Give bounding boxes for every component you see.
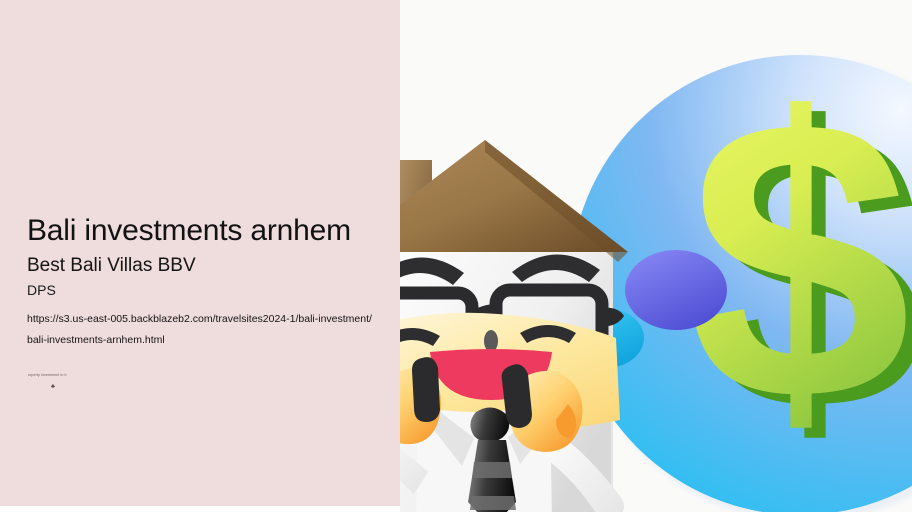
text-block: Bali investments arnhem Best Bali Villas…	[27, 212, 387, 351]
tie-stripe-2	[470, 496, 516, 510]
brand-subtitle: Best Bali Villas BBV	[27, 253, 387, 279]
dollar-sign: $ $	[689, 36, 912, 493]
house-character-illustration: $ $	[400, 0, 912, 512]
locale-code: DPS	[27, 280, 387, 300]
tie-stripe-1	[472, 462, 512, 478]
page-title: Bali investments arnhem	[27, 212, 387, 250]
thumb-left	[412, 357, 440, 422]
left-info-panel: Bali investments arnhem Best Bali Villas…	[0, 0, 400, 506]
page-root: Bali investments arnhem Best Bali Villas…	[0, 0, 912, 512]
micro-mark-icon: ♣	[51, 384, 58, 390]
micro-caption-text: roperty investment in b	[28, 372, 67, 378]
page-url[interactable]: https://s3.us-east-005.backblazeb2.com/t…	[27, 309, 372, 351]
nose	[484, 330, 498, 352]
thought-bubble-dot-large	[625, 250, 727, 330]
dollar-sign-face: $	[689, 36, 911, 483]
right-illustration-panel: $ $	[400, 0, 912, 512]
